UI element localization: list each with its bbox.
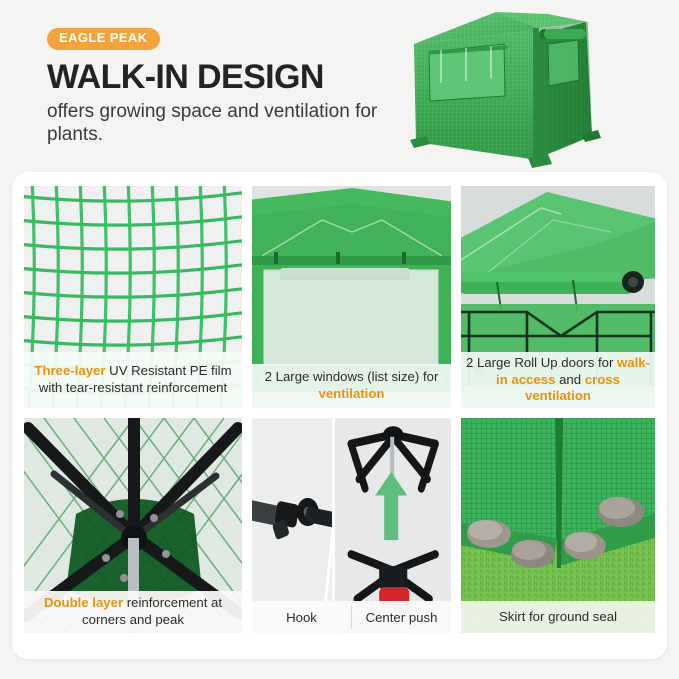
feature-grid: Three-layer UV Resistant PE film with te… [24,186,655,645]
greenhouse-hero-image [396,8,672,174]
feature-card: Three-layer UV Resistant PE film with te… [12,172,667,659]
page-subtitle: offers growing space and ventilation for… [47,100,392,147]
center-push-label: Center push [352,601,451,633]
caption-text-2: 2 Large windows (list size) for ventilat… [256,369,447,402]
panel-uv-resistant-pe-film[interactable]: Three-layer UV Resistant PE film with te… [24,186,242,408]
header-text-block: EAGLE PEAK WALK-IN DESIGN offers growing… [47,28,392,147]
page-title: WALK-IN DESIGN [47,59,392,96]
panel-large-windows[interactable]: 2 Large windows (list size) for ventilat… [252,186,451,408]
hook-label: Hook [252,601,351,633]
caption-text-4: Double layer reinforcement at corners an… [28,595,238,628]
panel-corner-peak-reinforcement[interactable]: Double layer reinforcement at corners an… [24,418,242,633]
caption-text-3: 2 Large Roll Up doors for walk-in access… [465,355,651,405]
panel-caption: 2 Large windows (list size) for ventilat… [252,364,451,408]
caption-text-1: Three-layer UV Resistant PE film with te… [28,363,238,396]
header-banner: EAGLE PEAK WALK-IN DESIGN offers growing… [0,0,679,172]
panel-roll-up-doors[interactable]: 2 Large Roll Up doors for walk-in access… [461,186,655,408]
brand-badge: EAGLE PEAK [47,28,160,50]
panel-ground-skirt[interactable]: Skirt for ground seal [461,418,655,633]
panel-caption: 2 Large Roll Up doors for walk-in access… [461,352,655,408]
panel-hook-and-center-push[interactable]: Hook Center push [252,418,451,633]
panel-caption: Double layer reinforcement at corners an… [24,591,242,633]
panel-caption: Three-layer UV Resistant PE film with te… [24,352,242,408]
caption-text-6: Skirt for ground seal [499,609,617,626]
panel-dual-caption: Hook Center push [252,601,451,633]
panel-caption: Skirt for ground seal [461,601,655,633]
